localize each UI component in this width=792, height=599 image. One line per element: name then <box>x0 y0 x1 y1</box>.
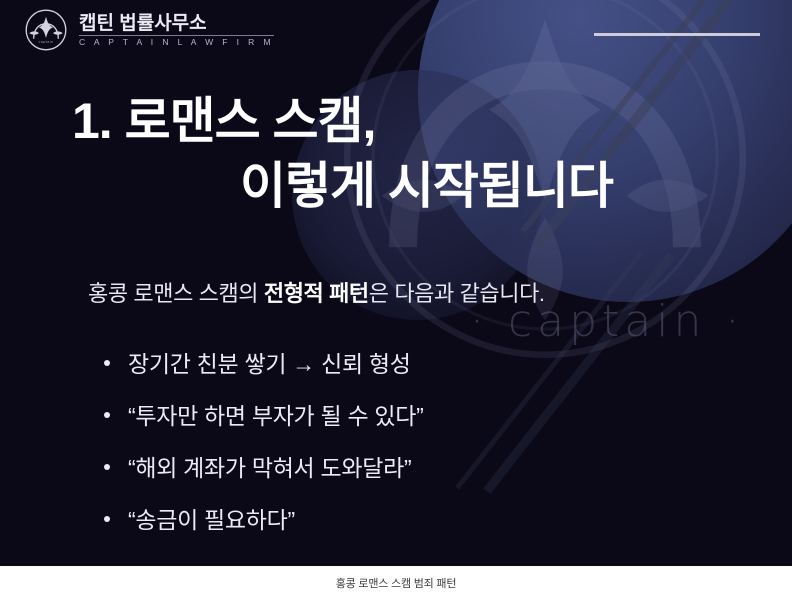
top-right-rule <box>594 33 760 36</box>
svg-text:captain: captain <box>39 40 54 44</box>
subtitle: 홍콩 로맨스 스캠의 전형적 패턴은 다음과 같습니다. <box>88 276 545 308</box>
list-item: “해외 계좌가 막혀서 도와달라” <box>104 449 424 483</box>
title-line-1: 1. 로맨스 스캠, <box>0 92 792 151</box>
subtitle-prefix: 홍콩 로맨스 스캠의 <box>88 281 264 306</box>
bullet-dot-icon <box>104 464 110 470</box>
list-item-label: 장기간 친분 쌓기 → 신뢰 형성 <box>128 345 411 379</box>
brand-divider <box>79 35 274 36</box>
list-item: 장기간 친분 쌓기 → 신뢰 형성 <box>104 345 424 379</box>
page-title: 1. 로맨스 스캠, 이렇게 시작됩니다 <box>0 92 792 216</box>
list-item-label: “송금이 필요하다” <box>128 501 295 535</box>
title-line-2: 이렇게 시작됩니다 <box>0 157 792 216</box>
subtitle-emphasis: 전형적 패턴 <box>264 281 369 306</box>
list-item: “송금이 필요하다” <box>104 501 424 535</box>
captain-shield-logo-icon: captain <box>24 8 68 52</box>
list-item-label: “해외 계좌가 막혀서 도와달라” <box>128 449 411 483</box>
caption-bar: 홍콩 로맨스 스캠 범죄 패턴 <box>0 566 792 599</box>
bullet-dot-icon <box>104 360 110 366</box>
list-item-label: “투자만 하면 부자가 될 수 있다” <box>128 397 424 431</box>
brand-text-block: 캡틴 법률사무소 C A P T A I N L A W F I R M <box>79 14 274 47</box>
bullet-dot-icon <box>104 412 110 418</box>
brand-name-korean: 캡틴 법률사무소 <box>79 14 274 33</box>
brand-header: captain 캡틴 법률사무소 C A P T A I N L A W F I… <box>24 8 274 52</box>
slide-canvas: · captain · captain 캡틴 법률사무소 C A P T A I… <box>0 0 792 566</box>
brand-name-english: C A P T A I N L A W F I R M <box>79 38 274 47</box>
subtitle-suffix: 은 다음과 같습니다. <box>369 281 545 306</box>
pattern-bullet-list: 장기간 친분 쌓기 → 신뢰 형성 “투자만 하면 부자가 될 수 있다” “해… <box>104 345 424 553</box>
caption-text: 홍콩 로맨스 스캠 범죄 패턴 <box>336 575 457 591</box>
bullet-dot-icon <box>104 516 110 522</box>
list-item: “투자만 하면 부자가 될 수 있다” <box>104 397 424 431</box>
